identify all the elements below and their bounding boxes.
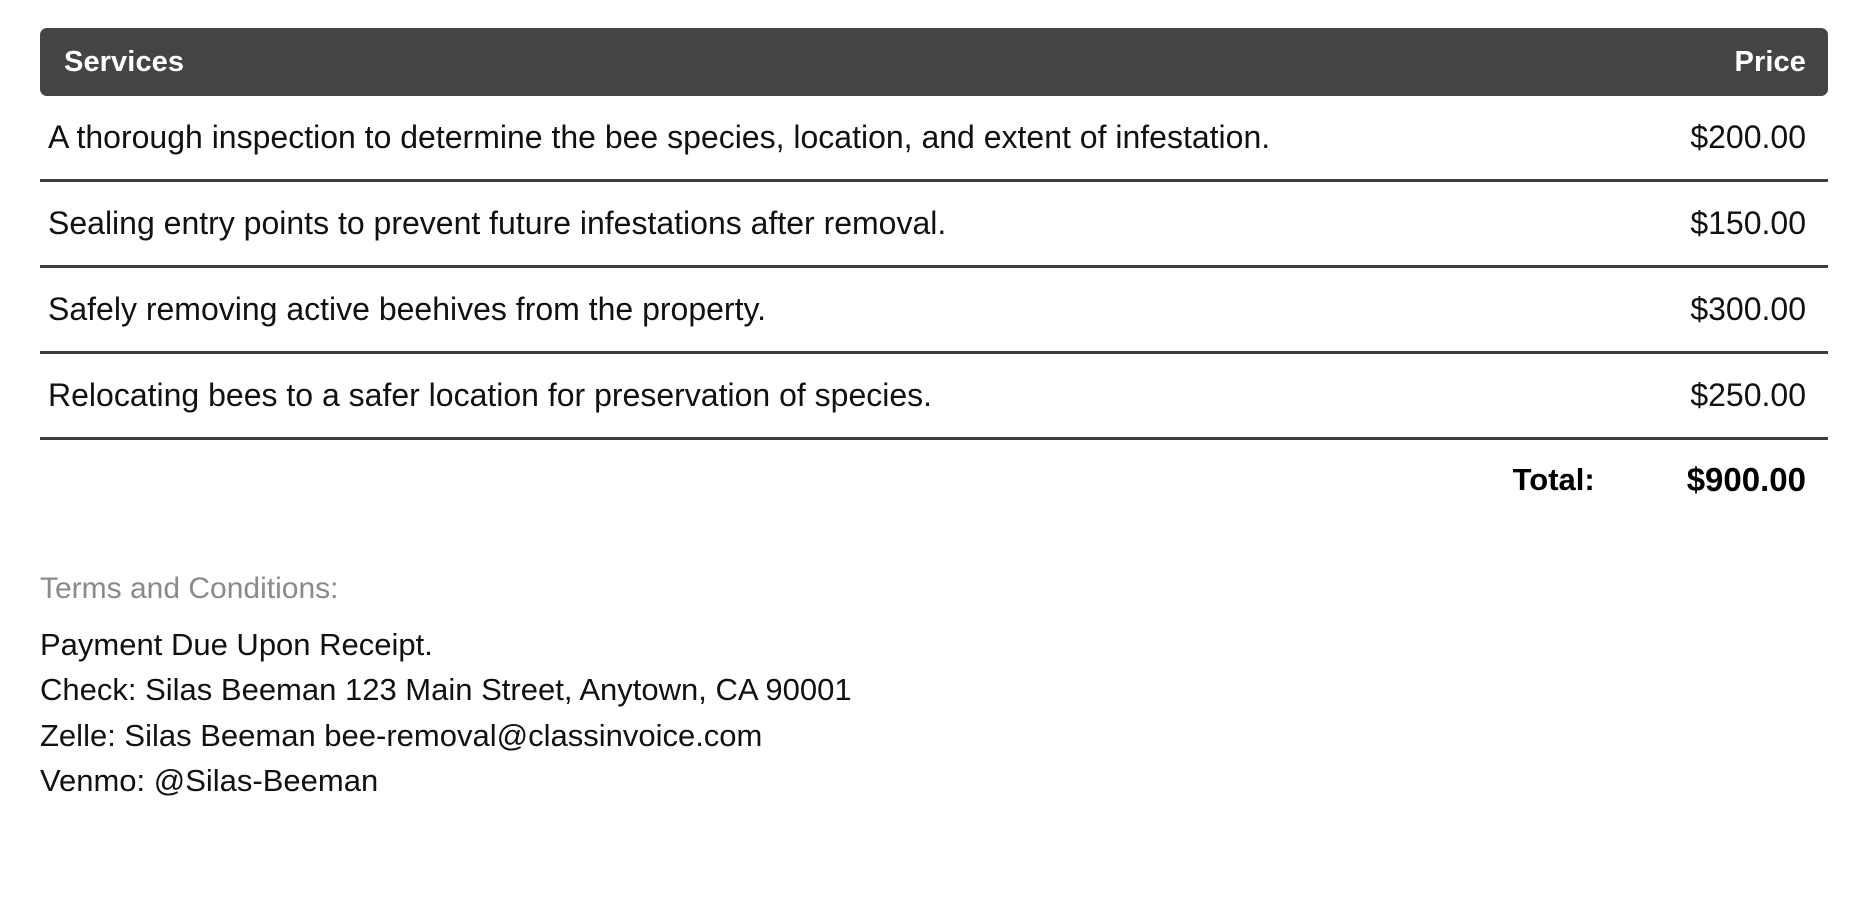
service-price: $250.00 — [1690, 376, 1806, 414]
service-price: $200.00 — [1690, 118, 1806, 156]
table-row: Safely removing active beehives from the… — [40, 268, 1828, 354]
table-header-row: Services Price — [40, 28, 1828, 96]
service-description: Sealing entry points to prevent future i… — [48, 204, 1690, 242]
total-value: $900.00 — [1687, 461, 1806, 499]
service-price: $300.00 — [1690, 290, 1806, 328]
terms-title: Terms and Conditions: — [40, 570, 1828, 608]
service-description: Relocating bees to a safer location for … — [48, 376, 1690, 414]
services-table: Services Price A thorough inspection to … — [40, 28, 1828, 520]
column-header-services: Services — [64, 48, 184, 77]
terms-line-payment-due: Payment Due Upon Receipt. — [40, 622, 1828, 668]
service-description: A thorough inspection to determine the b… — [48, 118, 1690, 156]
terms-line-check: Check: Silas Beeman 123 Main Street, Any… — [40, 667, 1828, 713]
service-price: $150.00 — [1690, 204, 1806, 242]
terms-and-conditions-section: Terms and Conditions: Payment Due Upon R… — [40, 570, 1828, 804]
total-label: Total: — [1513, 462, 1595, 498]
service-description: Safely removing active beehives from the… — [48, 290, 1690, 328]
terms-line-venmo: Venmo: @Silas-Beeman — [40, 758, 1828, 804]
table-row: Sealing entry points to prevent future i… — [40, 182, 1828, 268]
invoice-page: Services Price A thorough inspection to … — [0, 28, 1868, 898]
column-header-price: Price — [1735, 48, 1806, 77]
total-row: Total: $900.00 — [40, 440, 1828, 520]
table-row: Relocating bees to a safer location for … — [40, 354, 1828, 440]
terms-line-zelle: Zelle: Silas Beeman bee-removal@classinv… — [40, 713, 1828, 759]
table-row: A thorough inspection to determine the b… — [40, 96, 1828, 182]
